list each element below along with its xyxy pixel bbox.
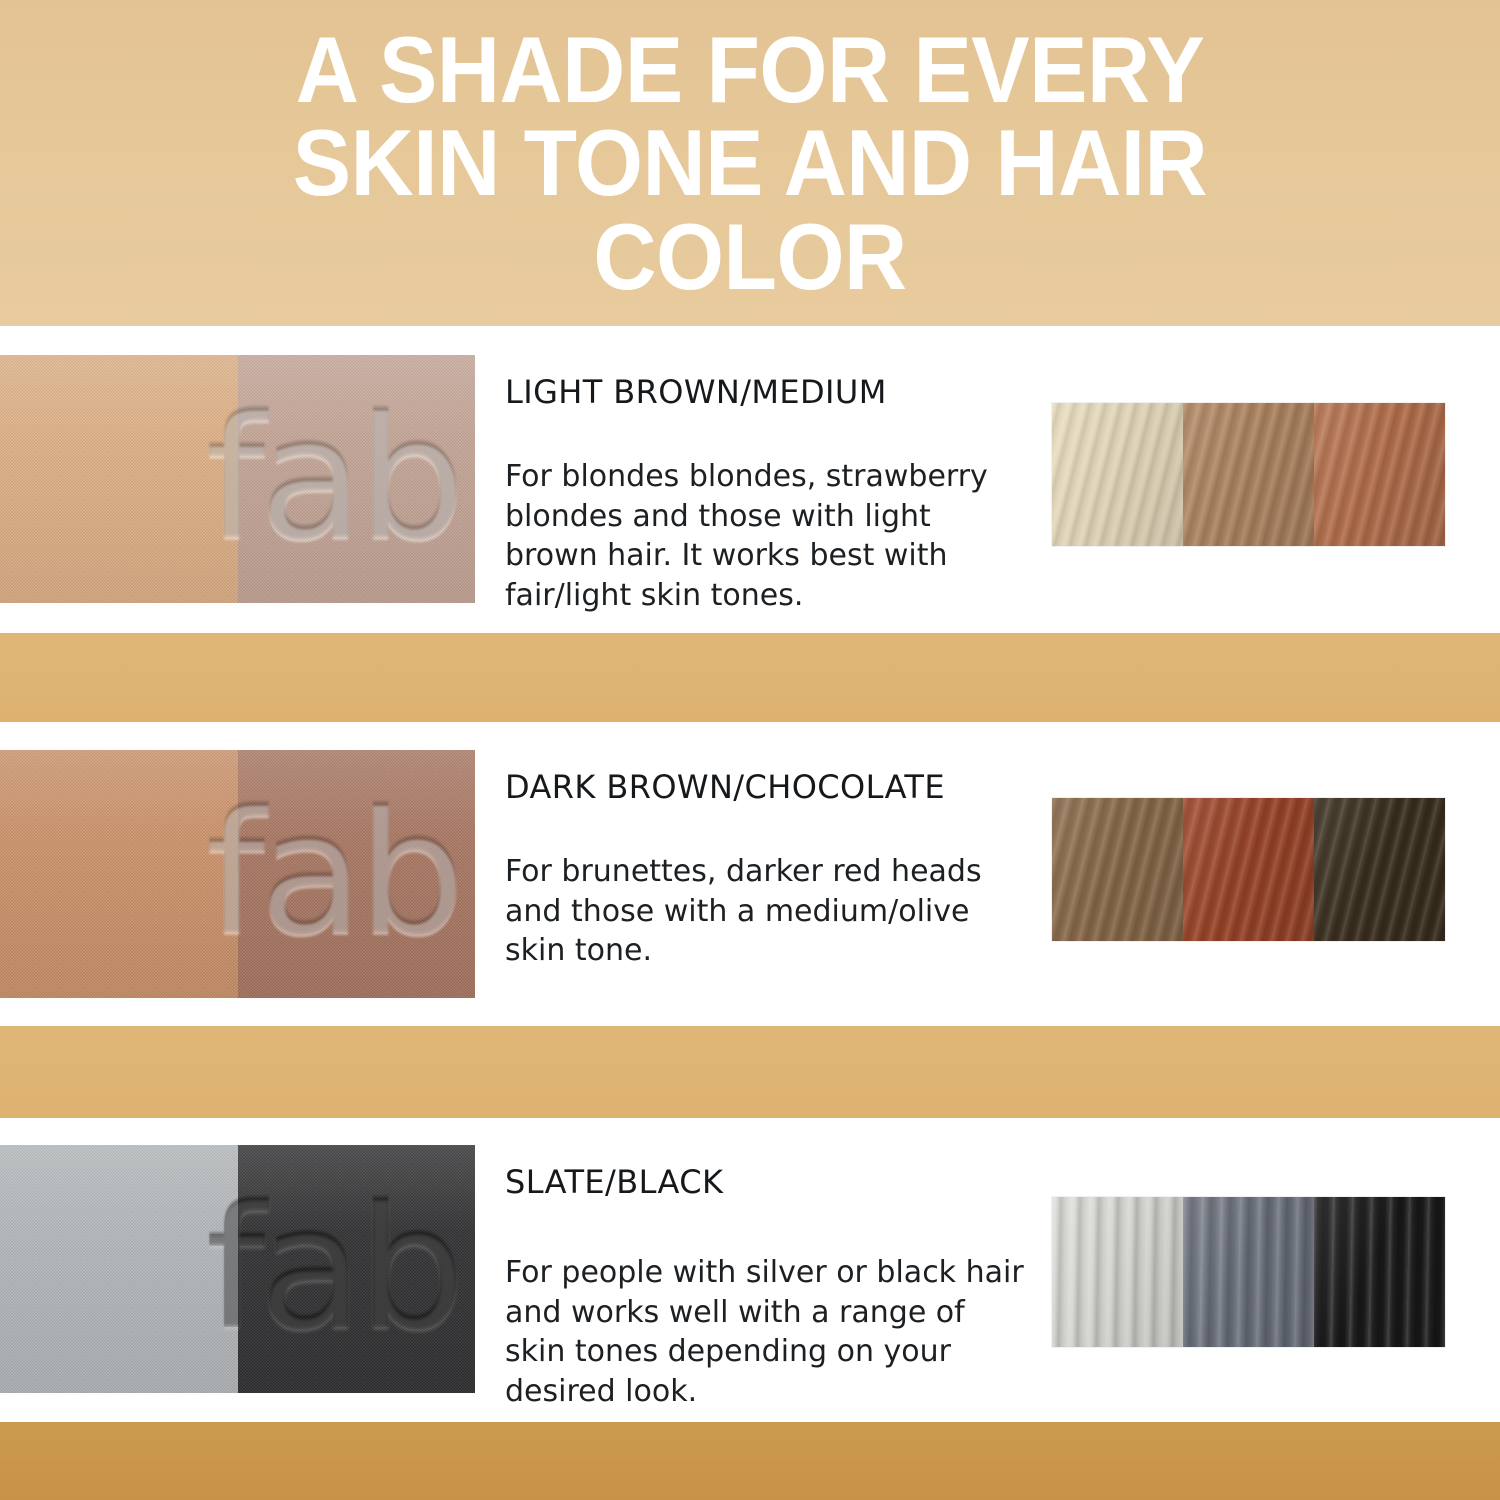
shade-name: SLATE/BLACK xyxy=(505,1163,1025,1201)
pan-sheen xyxy=(0,355,238,603)
hair-shading xyxy=(1183,798,1314,941)
hair-shading xyxy=(1314,1197,1445,1347)
hair-color-swatch-group xyxy=(1052,798,1445,941)
page-title: A SHADE FOR EVERY SKIN TONE AND HAIR COL… xyxy=(192,23,1308,302)
shade-row-dark-brown-chocolate: fab DARK BROWN/CHOCOLATE For brunettes, … xyxy=(0,750,1500,998)
hair-swatch xyxy=(1052,1197,1183,1347)
hair-shading xyxy=(1314,798,1445,941)
shade-row-light-brown-medium: fab LIGHT BROWN/MEDIUM For blondes blond… xyxy=(0,355,1500,603)
pan-sheen xyxy=(238,750,476,998)
pan-half-left xyxy=(0,750,238,998)
hair-shading xyxy=(1314,403,1445,546)
hair-shading xyxy=(1183,403,1314,546)
pan-half-left xyxy=(0,355,238,603)
hair-swatch xyxy=(1183,798,1314,941)
hair-color-swatch-group xyxy=(1052,403,1445,546)
hair-swatch xyxy=(1052,798,1183,941)
footer-bar xyxy=(0,1422,1500,1500)
pan-sheen xyxy=(238,1145,476,1393)
hair-shading xyxy=(1052,798,1183,941)
hair-color-swatch-group xyxy=(1052,1197,1445,1347)
divider-bar-1 xyxy=(0,633,1500,722)
pan-half-right xyxy=(238,355,476,603)
product-pan-swatch: fab xyxy=(0,355,475,603)
hair-shading xyxy=(1052,1197,1183,1347)
hair-swatch xyxy=(1314,798,1445,941)
shade-text-block: SLATE/BLACK For people with silver or bl… xyxy=(505,1163,1025,1411)
product-pan-swatch: fab xyxy=(0,750,475,998)
pan-half-right xyxy=(238,750,476,998)
product-pan-swatch: fab xyxy=(0,1145,475,1393)
shade-name: DARK BROWN/CHOCOLATE xyxy=(505,768,1025,806)
hair-swatch xyxy=(1314,1197,1445,1347)
divider-bar-2 xyxy=(0,1026,1500,1118)
shade-name: LIGHT BROWN/MEDIUM xyxy=(505,373,1025,411)
pan-sheen xyxy=(0,1145,238,1393)
pan-sheen xyxy=(238,355,476,603)
shade-row-slate-black: fab SLATE/BLACK For people with silver o… xyxy=(0,1145,1500,1393)
hair-shading xyxy=(1183,1197,1314,1347)
pan-half-right xyxy=(238,1145,476,1393)
pan-sheen xyxy=(0,750,238,998)
shade-description: For brunettes, darker red heads and thos… xyxy=(505,852,1025,971)
shade-text-block: DARK BROWN/CHOCOLATE For brunettes, dark… xyxy=(505,768,1025,971)
shade-text-block: LIGHT BROWN/MEDIUM For blondes blondes, … xyxy=(505,373,1025,615)
hair-swatch xyxy=(1183,1197,1314,1347)
shade-description: For people with silver or black hair and… xyxy=(505,1253,1025,1411)
shade-description: For blondes blondes, strawberry blondes … xyxy=(505,457,1025,615)
pan-half-left xyxy=(0,1145,238,1393)
page-header: A SHADE FOR EVERY SKIN TONE AND HAIR COL… xyxy=(0,0,1500,326)
hair-shading xyxy=(1052,403,1183,546)
hair-swatch xyxy=(1314,403,1445,546)
hair-swatch xyxy=(1052,403,1183,546)
hair-swatch xyxy=(1183,403,1314,546)
